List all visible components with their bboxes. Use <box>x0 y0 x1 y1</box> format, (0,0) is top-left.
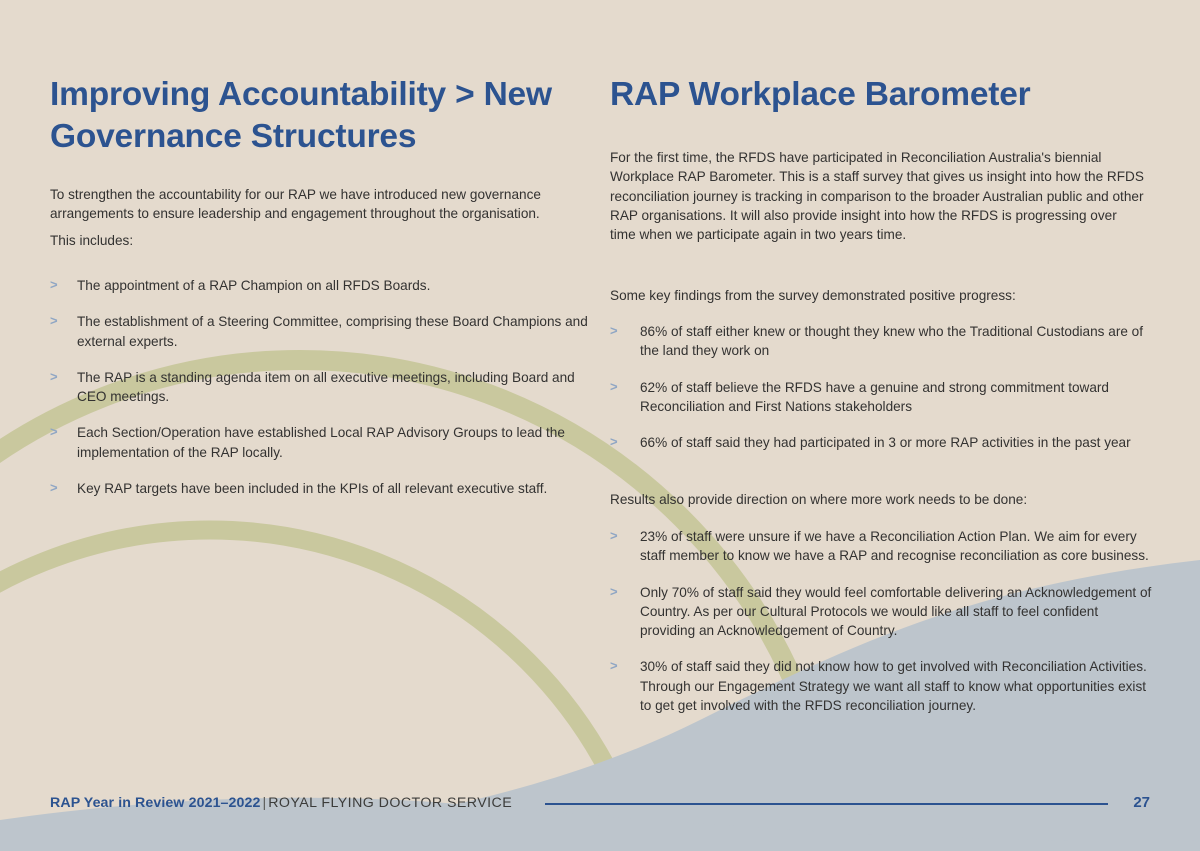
positive-findings-list: > 86% of staff either knew or thought th… <box>610 322 1155 452</box>
chevron-right-icon: > <box>610 378 618 396</box>
chevron-right-icon: > <box>50 312 58 330</box>
chevron-right-icon: > <box>50 276 58 294</box>
list-item: > 30% of staff said they did not know ho… <box>610 657 1155 715</box>
list-item-text: Key RAP targets have been included in th… <box>77 481 547 496</box>
page-number: 27 <box>1133 793 1150 813</box>
chevron-right-icon: > <box>610 583 618 601</box>
barometer-intro-paragraph: For the first time, the RFDS have partic… <box>610 148 1146 244</box>
chevron-right-icon: > <box>610 433 618 451</box>
chevron-right-icon: > <box>50 423 58 441</box>
list-item: > 62% of staff believe the RFDS have a g… <box>610 378 1155 417</box>
footer-report-title: RAP Year in Review 2021–2022 <box>50 795 261 811</box>
footer-organisation: ROYAL FLYING DOCTOR SERVICE <box>268 795 512 811</box>
chevron-right-icon: > <box>50 479 58 497</box>
improvement-findings-label: Results also provide direction on where … <box>610 490 1146 509</box>
governance-bullet-list: > The appointment of a RAP Champion on a… <box>50 276 595 498</box>
document-page: Improving Accountability > New Governanc… <box>0 0 1200 851</box>
list-item: > The appointment of a RAP Champion on a… <box>50 276 595 295</box>
page-footer: RAP Year in Review 2021–2022|ROYAL FLYIN… <box>50 793 1150 815</box>
list-item-text: The appointment of a RAP Champion on all… <box>77 278 430 293</box>
footer-divider-rule <box>545 803 1108 805</box>
list-item-text: 86% of staff either knew or thought they… <box>640 324 1143 358</box>
list-item: > Only 70% of staff said they would feel… <box>610 583 1155 641</box>
list-item-text: Only 70% of staff said they would feel c… <box>640 585 1151 639</box>
list-item: > 86% of staff either knew or thought th… <box>610 322 1155 361</box>
chevron-right-icon: > <box>50 368 58 386</box>
left-column-intro-paragraph: To strengthen the accountability for our… <box>50 185 578 224</box>
list-item: > The RAP is a standing agenda item on a… <box>50 368 595 407</box>
left-column-heading: Improving Accountability > New Governanc… <box>50 74 590 157</box>
list-item: > Each Section/Operation have establishe… <box>50 423 595 462</box>
list-item: > 23% of staff were unsure if we have a … <box>610 527 1155 566</box>
list-item: > 66% of staff said they had participate… <box>610 433 1155 452</box>
list-item-text: The RAP is a standing agenda item on all… <box>77 370 575 404</box>
chevron-right-icon: > <box>610 527 618 545</box>
right-column-heading: RAP Workplace Barometer <box>610 74 1150 116</box>
positive-findings-label: Some key findings from the survey demons… <box>610 286 1146 305</box>
list-item: > Key RAP targets have been included in … <box>50 479 595 498</box>
left-column-includes-label: This includes: <box>50 231 578 250</box>
chevron-right-icon: > <box>610 657 618 675</box>
list-item-text: 62% of staff believe the RFDS have a gen… <box>640 380 1109 414</box>
list-item-text: Each Section/Operation have established … <box>77 425 565 459</box>
list-item: > The establishment of a Steering Commit… <box>50 312 595 351</box>
list-item-text: 66% of staff said they had participated … <box>640 435 1131 450</box>
improvement-findings-list: > 23% of staff were unsure if we have a … <box>610 527 1155 715</box>
list-item-text: The establishment of a Steering Committe… <box>77 314 588 348</box>
list-item-text: 30% of staff said they did not know how … <box>640 659 1147 713</box>
chevron-right-icon: > <box>610 322 618 340</box>
footer-text: RAP Year in Review 2021–2022|ROYAL FLYIN… <box>50 793 512 813</box>
list-item-text: 23% of staff were unsure if we have a Re… <box>640 529 1149 563</box>
